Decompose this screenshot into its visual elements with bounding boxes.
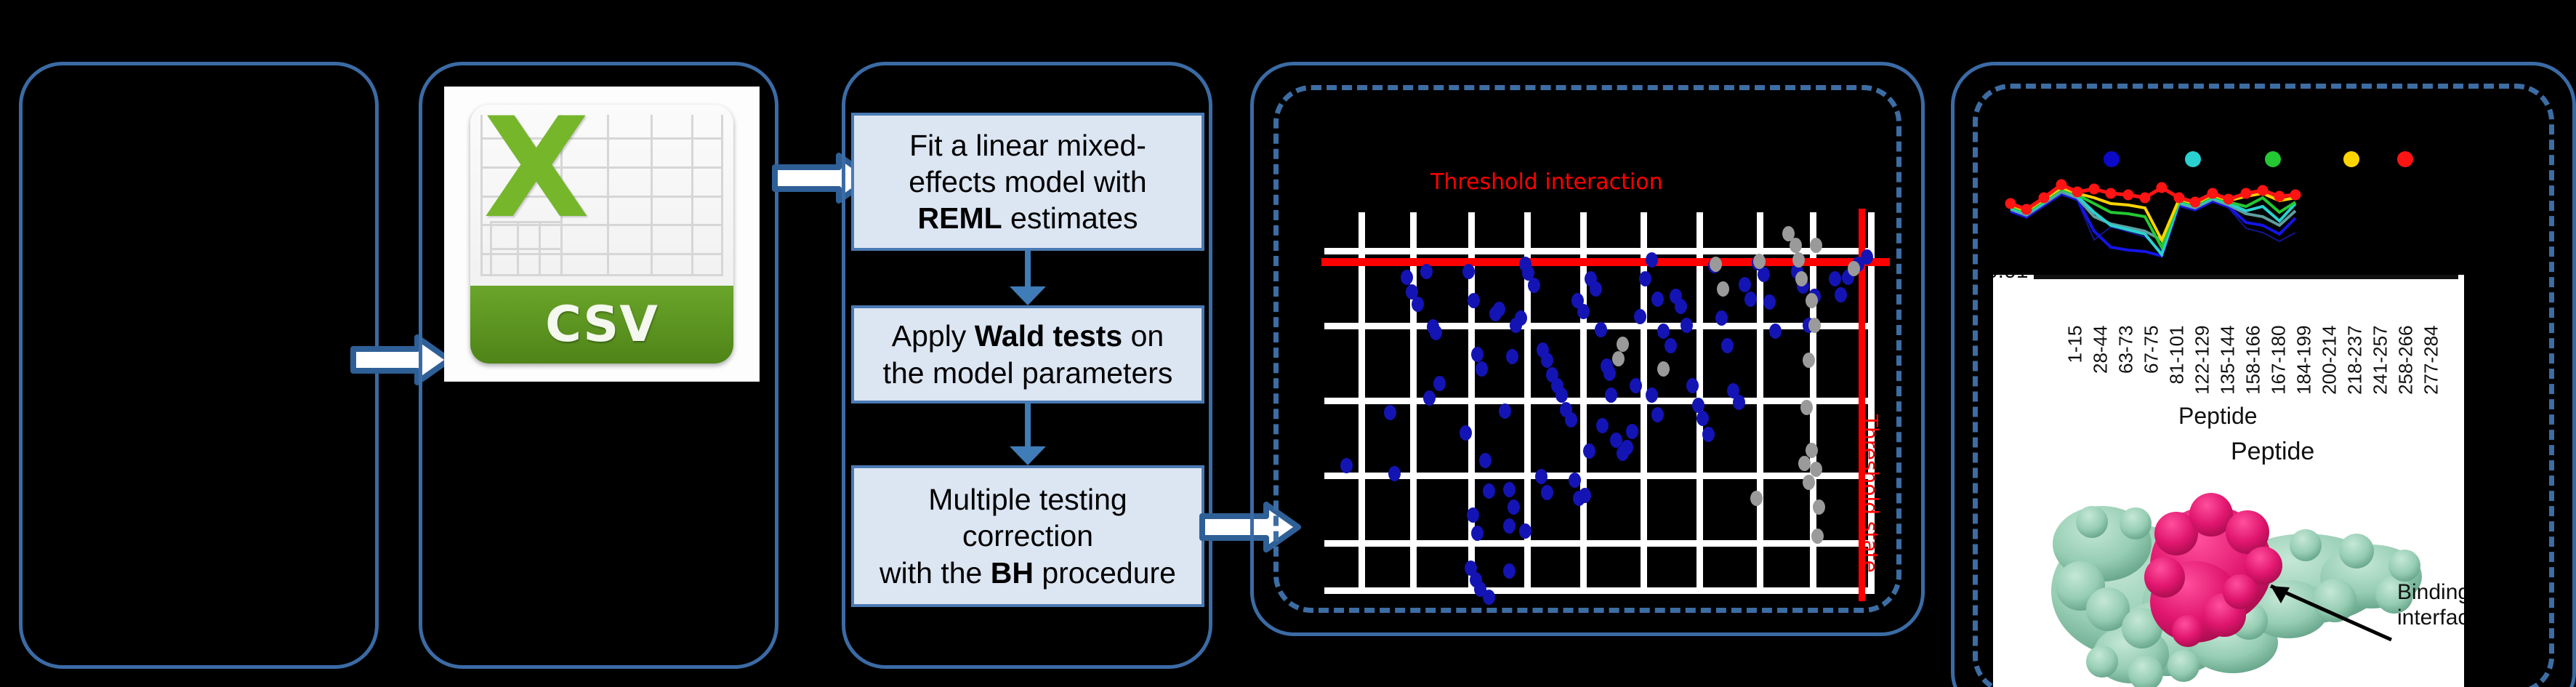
x-axis-title: Peptide bbox=[2178, 403, 2258, 430]
data-point-significant bbox=[1861, 249, 1873, 265]
data-point-significant bbox=[1651, 407, 1664, 422]
data-point-significant bbox=[1493, 302, 1505, 317]
data-point-significant bbox=[1384, 405, 1396, 420]
data-point-significant bbox=[1499, 403, 1511, 419]
peptide-tick-label: 167-180 bbox=[2268, 326, 2290, 413]
data-point-significant bbox=[1590, 281, 1602, 297]
peptide-tick-label: 258-266 bbox=[2395, 326, 2418, 413]
peptide-tick-label: 122-129 bbox=[2191, 326, 2214, 413]
data-point-significant bbox=[1569, 473, 1581, 488]
data-point-significant bbox=[1565, 412, 1577, 427]
grid-h bbox=[1324, 587, 1872, 594]
multiple-testing-box-text: Multiple testingcorrectionwith the BH pr… bbox=[854, 481, 1202, 590]
wald-tests-box: Apply Wald tests onthe model parameters bbox=[851, 305, 1204, 403]
data-point-significant bbox=[1665, 338, 1677, 353]
data-point-significant bbox=[1412, 297, 1424, 312]
data-point-significant bbox=[1401, 270, 1413, 285]
data-point-significant bbox=[1468, 293, 1480, 308]
data-point-significant bbox=[1702, 427, 1715, 442]
protein-structure-card: 0.01 1-15 28-44 63-73 67-75 81-101 122-1… bbox=[1993, 275, 2464, 687]
csv-icon-letter: X bbox=[483, 105, 594, 224]
data-point-nonsignificant bbox=[1753, 254, 1766, 269]
grid-v bbox=[1359, 212, 1365, 594]
data-point-significant bbox=[1639, 271, 1651, 286]
connector-wald-to-bh bbox=[1025, 403, 1031, 451]
data-point-nonsignificant bbox=[1717, 281, 1729, 297]
grid-v bbox=[1580, 212, 1587, 594]
data-point-nonsignificant bbox=[1848, 261, 1860, 276]
data-point-significant bbox=[1460, 425, 1472, 441]
data-point-significant bbox=[1675, 299, 1687, 314]
data-point-nonsignificant bbox=[1806, 293, 1818, 308]
line-chart-svg bbox=[1996, 131, 2534, 258]
data-point-nonsignificant bbox=[1790, 238, 1802, 253]
data-point-significant bbox=[1388, 466, 1401, 481]
data-point-significant bbox=[1621, 440, 1633, 455]
data-point-significant bbox=[1596, 418, 1609, 433]
data-point-significant bbox=[1651, 292, 1664, 307]
data-point-nonsignificant bbox=[1806, 443, 1818, 458]
legend-dot-green bbox=[2265, 151, 2281, 167]
data-point-nonsignificant bbox=[1798, 456, 1811, 471]
data-point-significant bbox=[1626, 424, 1638, 439]
legend-dot-red bbox=[2397, 151, 2413, 167]
data-point-significant bbox=[1462, 264, 1475, 279]
fit-model-box: Fit a linear mixed-effects model withREM… bbox=[851, 113, 1204, 251]
volcano-plot: Threshold interaction Threshold state bbox=[1288, 127, 1890, 592]
x-axis-line bbox=[2034, 275, 2458, 279]
data-point-significant bbox=[1476, 361, 1488, 377]
peptide-tick-label: 218-237 bbox=[2344, 326, 2367, 413]
peptide-tick-label: 158-166 bbox=[2242, 326, 2265, 413]
data-point-significant bbox=[1503, 518, 1516, 534]
data-point-nonsignificant bbox=[1657, 361, 1670, 377]
data-point-significant bbox=[1744, 292, 1757, 307]
data-point-nonsignificant bbox=[1795, 271, 1808, 286]
data-point-nonsignificant bbox=[1803, 353, 1815, 368]
data-point-significant bbox=[1483, 483, 1495, 499]
legend-dot-blue bbox=[2104, 151, 2120, 167]
data-point-significant bbox=[1646, 252, 1658, 268]
data-point-significant bbox=[1503, 482, 1516, 497]
grid-h bbox=[1324, 398, 1872, 404]
csv-file-icon: X CSV bbox=[445, 87, 759, 381]
peptide-line-chart bbox=[1996, 131, 2534, 258]
csv-icon-format-label: CSV bbox=[470, 286, 734, 363]
data-point-significant bbox=[1595, 322, 1607, 337]
data-point-significant bbox=[1541, 485, 1553, 500]
data-point-significant bbox=[1508, 499, 1520, 515]
grid-v bbox=[1410, 212, 1417, 594]
volcano-plot-title: Threshold interaction bbox=[1430, 169, 1663, 195]
figure-canvas: X CSV Fit a linear mixed-effects model w… bbox=[0, 0, 2576, 687]
data-point-significant bbox=[1503, 563, 1516, 579]
data-point-significant bbox=[1423, 390, 1436, 406]
data-point-significant bbox=[1583, 443, 1595, 459]
data-point-significant bbox=[1603, 366, 1616, 381]
data-point-significant bbox=[1535, 469, 1547, 484]
peptide-tick-label: 184-199 bbox=[2293, 326, 2316, 413]
legend-dot-yellow bbox=[2343, 151, 2359, 167]
peptide-tick-label: 200-214 bbox=[2319, 326, 2341, 413]
data-point-significant bbox=[1515, 310, 1527, 326]
grid-h bbox=[1324, 473, 1872, 479]
data-point-significant bbox=[1528, 278, 1540, 293]
legend-dot-cyan bbox=[2185, 151, 2201, 167]
data-point-significant bbox=[1696, 411, 1709, 426]
data-point-significant bbox=[1605, 387, 1617, 403]
data-point-significant bbox=[1763, 294, 1776, 310]
data-point-significant bbox=[1634, 309, 1646, 324]
peptide-tick-label: 135-144 bbox=[2217, 326, 2239, 413]
data-point-nonsignificant bbox=[1792, 252, 1805, 268]
threshold-state-label: Threshold state bbox=[1859, 414, 1883, 573]
peptide-tick-label: 1-15 bbox=[2064, 326, 2087, 413]
data-point-nonsignificant bbox=[1617, 337, 1629, 352]
data-point-significant bbox=[1541, 353, 1553, 368]
data-point-nonsignificant bbox=[1810, 462, 1822, 477]
data-point-significant bbox=[1430, 325, 1442, 340]
data-point-nonsignificant bbox=[1808, 318, 1821, 333]
data-point-significant bbox=[1769, 324, 1782, 339]
data-point-significant bbox=[1433, 376, 1446, 391]
connector-fit-to-wald bbox=[1025, 251, 1031, 291]
data-point-significant bbox=[1721, 338, 1734, 353]
binding-interface-label: Binding interface bbox=[2397, 580, 2464, 630]
data-point-significant bbox=[1829, 271, 1841, 286]
data-point-significant bbox=[1577, 304, 1590, 319]
data-point-significant bbox=[1479, 453, 1492, 468]
peptide-tick-label: 277-284 bbox=[2420, 326, 2443, 413]
peptide-tick-label: 81-101 bbox=[2166, 326, 2189, 413]
data-point-nonsignificant bbox=[1813, 499, 1825, 515]
panel-1-empty bbox=[19, 62, 379, 669]
data-point-significant bbox=[1555, 387, 1568, 403]
data-point-significant bbox=[1835, 287, 1847, 302]
csv-icon-body: X CSV bbox=[470, 105, 734, 363]
data-point-nonsignificant bbox=[1803, 475, 1815, 490]
wald-tests-box-text: Apply Wald tests onthe model parameters bbox=[854, 318, 1202, 390]
data-point-nonsignificant bbox=[1811, 529, 1824, 544]
multiple-testing-box: Multiple testingcorrectionwith the BH pr… bbox=[851, 465, 1204, 607]
binding-interface-label-line2: interface bbox=[2397, 606, 2464, 630]
data-point-significant bbox=[1506, 349, 1518, 364]
data-point-nonsignificant bbox=[1800, 400, 1813, 415]
grid-v bbox=[1641, 212, 1647, 594]
data-point-significant bbox=[1657, 324, 1670, 339]
data-point-nonsignificant bbox=[1810, 238, 1822, 253]
data-point-significant bbox=[1420, 264, 1433, 279]
fit-model-box-text: Fit a linear mixed-effects model withREM… bbox=[854, 127, 1202, 236]
data-point-significant bbox=[1471, 526, 1484, 541]
peptide-tick-label: 28-44 bbox=[2090, 326, 2112, 413]
data-point-significant bbox=[1758, 267, 1770, 282]
data-point-significant bbox=[1739, 277, 1751, 292]
y-axis-tick-label: 0.01 bbox=[1993, 275, 2028, 284]
data-point-significant bbox=[1471, 347, 1484, 362]
binding-interface-label-line1: Binding bbox=[2397, 580, 2464, 604]
data-point-significant bbox=[1483, 590, 1495, 605]
data-point-significant bbox=[1646, 387, 1658, 403]
data-point-significant bbox=[1686, 378, 1699, 393]
data-point-significant bbox=[1681, 318, 1693, 333]
grid-h bbox=[1324, 540, 1872, 547]
data-point-significant bbox=[1340, 458, 1353, 473]
peptide-tick-label: 67-75 bbox=[2141, 326, 2163, 413]
data-point-nonsignificant bbox=[1612, 351, 1625, 366]
peptide-tick-label: 241-257 bbox=[2370, 326, 2392, 413]
protein-surface-render bbox=[1993, 457, 2464, 687]
data-point-significant bbox=[1579, 488, 1591, 503]
data-point-nonsignificant bbox=[1710, 257, 1722, 272]
data-point-significant bbox=[1630, 378, 1642, 393]
data-point-significant bbox=[1467, 507, 1479, 523]
data-point-nonsignificant bbox=[1750, 491, 1763, 506]
data-point-significant bbox=[1519, 523, 1531, 539]
peptide-tick-label: 63-73 bbox=[2115, 326, 2138, 413]
data-point-significant bbox=[1715, 310, 1728, 326]
data-point-significant bbox=[1733, 395, 1745, 410]
